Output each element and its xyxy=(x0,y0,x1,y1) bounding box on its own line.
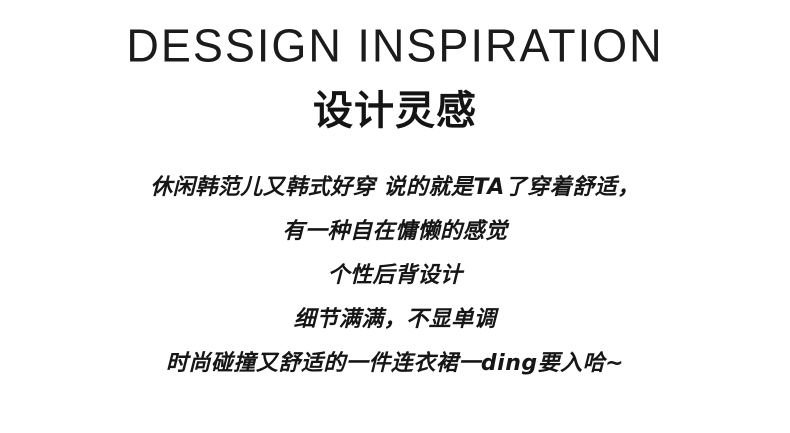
description-line: 休闲韩范儿又韩式好穿 说的就是TA了穿着舒适， xyxy=(0,166,790,210)
description-line: 有一种自在慵懒的感觉 xyxy=(0,210,790,254)
page-title: DESSIGN INSPIRATION xyxy=(126,20,663,72)
description-line: 细节满满，不显单调 xyxy=(0,298,790,342)
description-line: 个性后背设计 xyxy=(0,254,790,298)
subtitle-heading: 设计灵感 xyxy=(313,88,477,134)
description-block: 休闲韩范儿又韩式好穿 说的就是TA了穿着舒适， 有一种自在慵懒的感觉 个性后背设… xyxy=(0,166,790,386)
heading-row: 设计灵感 xyxy=(0,88,790,134)
title-row: DESSIGN INSPIRATION xyxy=(0,20,790,70)
description-line: 时尚碰撞又舒适的一件连衣裙一ding要入哈~ xyxy=(0,342,790,386)
design-inspiration-poster: DESSIGN INSPIRATION 设计灵感 休闲韩范儿又韩式好穿 说的就是… xyxy=(0,0,790,433)
